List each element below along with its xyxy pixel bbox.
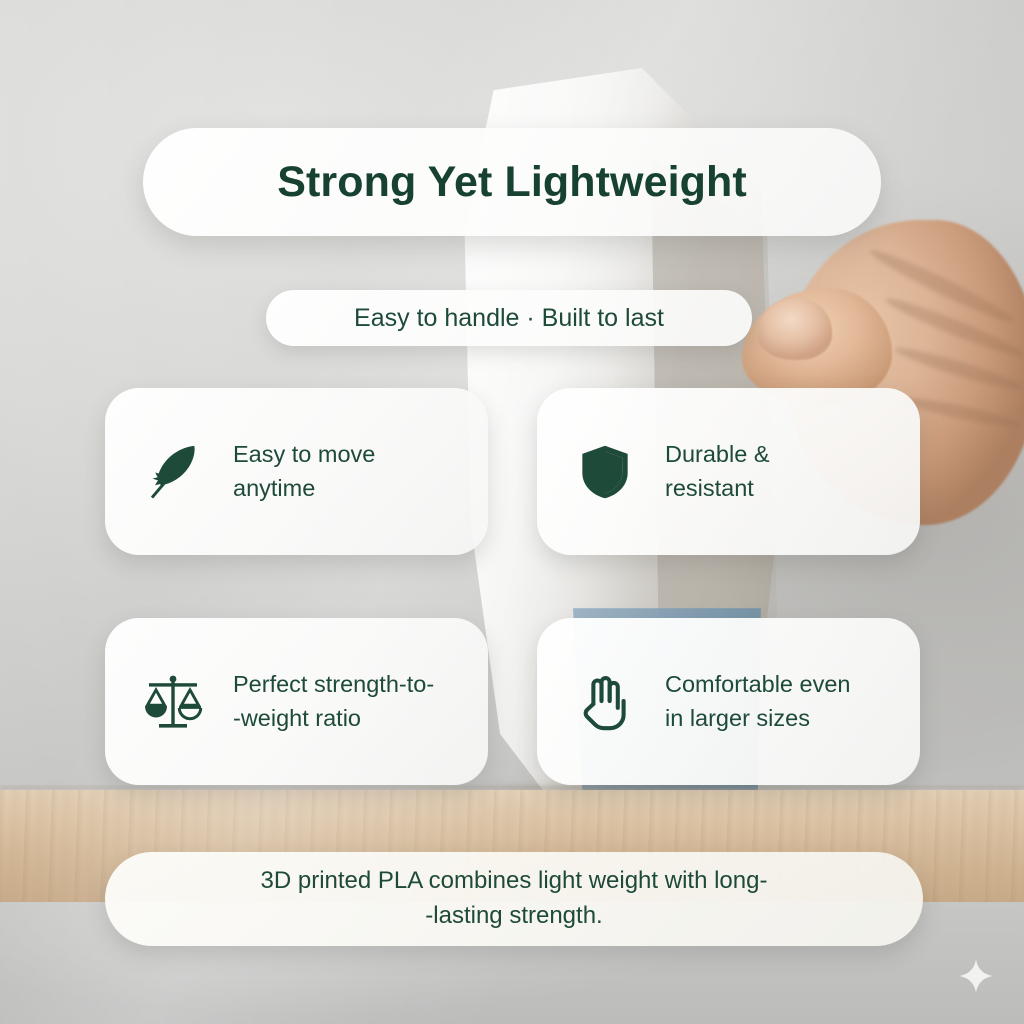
feature-line-1: Durable & [665,441,770,467]
subtitle-banner: Easy to handle · Built to last [266,290,752,346]
thumb-nail [758,298,832,360]
feature-card-label: Perfect strength-to- -weight ratio [233,668,434,735]
page-subtitle: Easy to handle · Built to last [354,304,664,333]
feature-line-2: in larger sizes [665,702,851,735]
feature-card-easy-to-move[interactable]: Easy to move anytime [105,388,488,555]
page-title: Strong Yet Lightweight [277,158,747,207]
feature-line-2: -weight ratio [233,702,434,735]
balance-scale-icon [135,664,211,740]
infographic-canvas: Strong Yet Lightweight Easy to handle · … [0,0,1024,1024]
open-hand-icon [567,664,643,740]
footer-banner: 3D printed PLA combines light weight wit… [105,852,923,946]
sparkle-icon [959,959,993,993]
feature-card-label: Durable & resistant [665,438,770,505]
footer-line-1: 3D printed PLA combines light weight wit… [261,864,768,899]
feature-line-1: Comfortable even [665,671,851,697]
feature-line-2: anytime [233,472,375,505]
title-banner: Strong Yet Lightweight [143,128,881,236]
feature-line-1: Easy to move [233,441,375,467]
feature-card-comfortable[interactable]: Comfortable even in larger sizes [537,618,920,785]
footer-line-2: -lasting strength. [425,899,602,934]
shield-icon [567,434,643,510]
feature-line-1: Perfect strength-to- [233,671,434,697]
feature-card-strength-to-weight[interactable]: Perfect strength-to- -weight ratio [105,618,488,785]
feature-card-durable[interactable]: Durable & resistant [537,388,920,555]
feature-line-2: resistant [665,472,770,505]
feature-card-label: Easy to move anytime [233,438,375,505]
feature-card-label: Comfortable even in larger sizes [665,668,851,735]
feather-icon [135,434,211,510]
